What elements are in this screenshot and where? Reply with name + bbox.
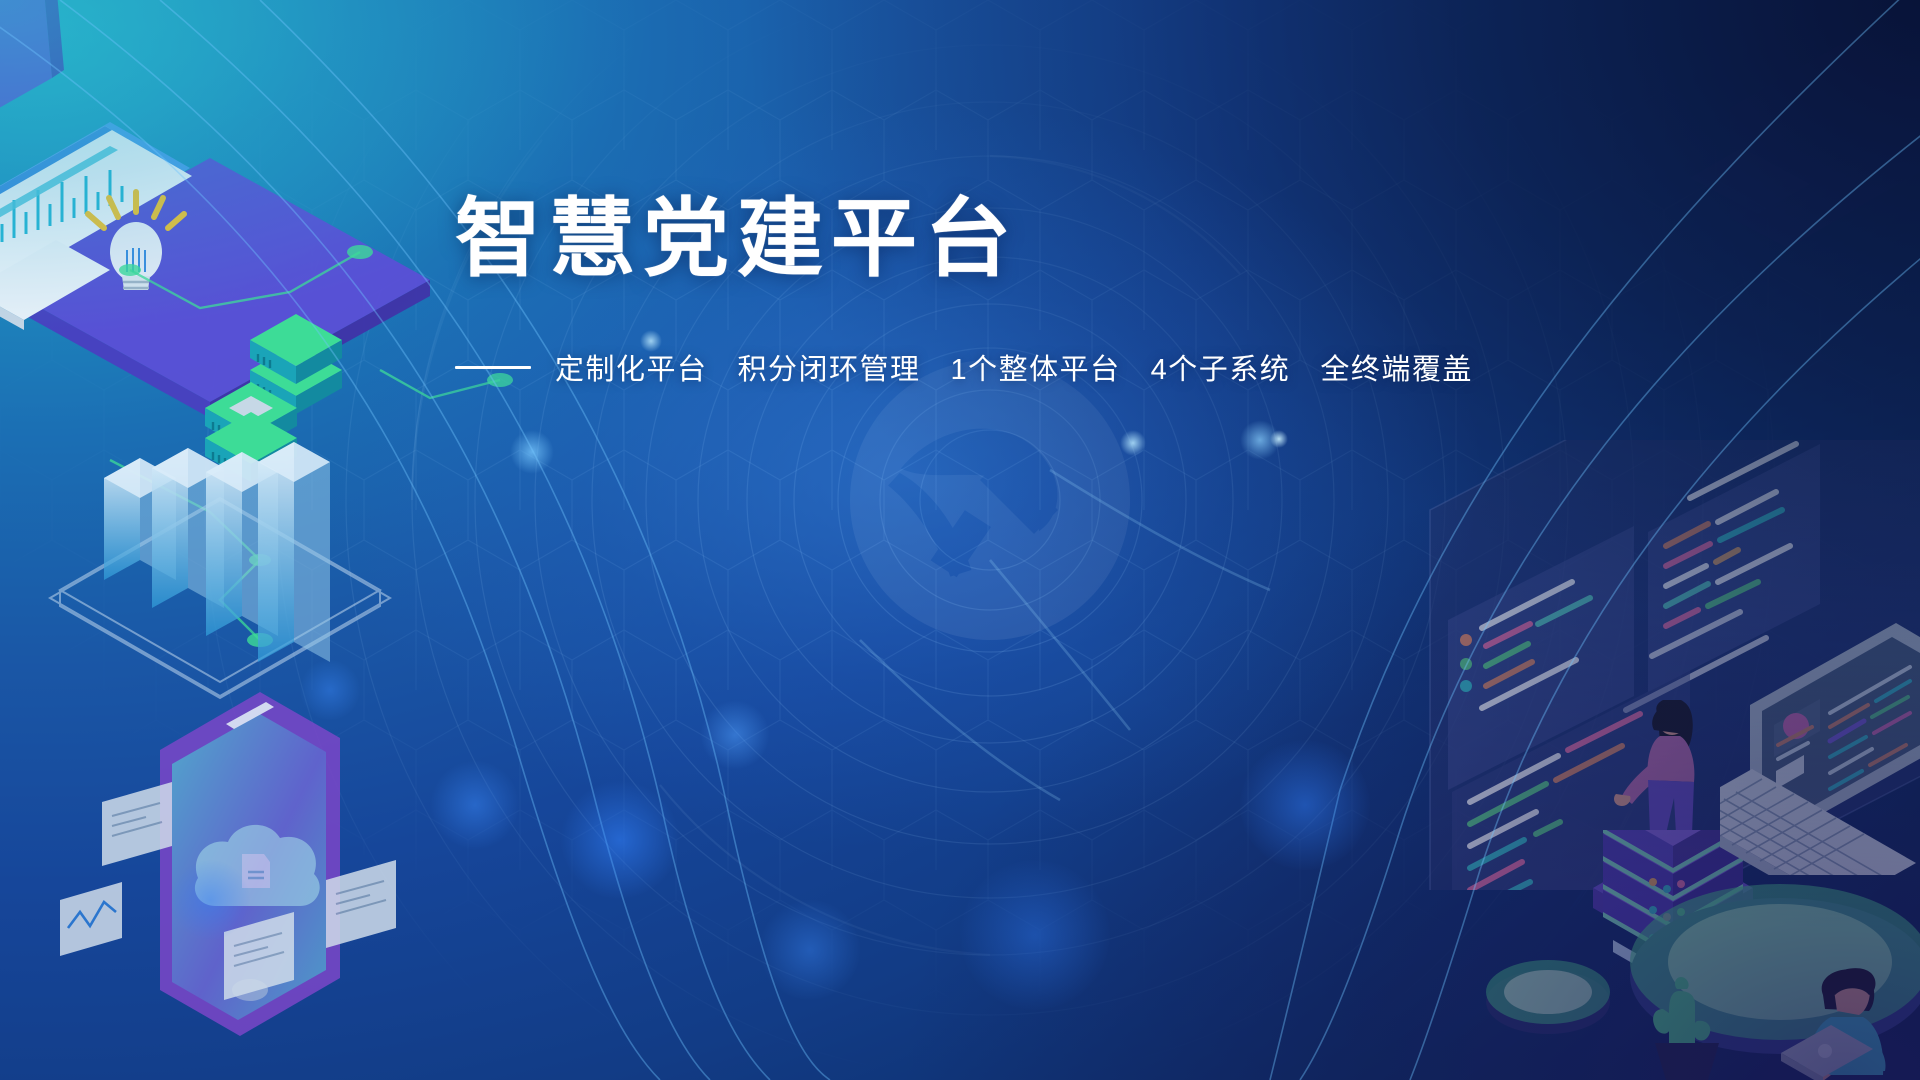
disc-small <box>1486 960 1610 1034</box>
hero-subtitle: 定制化平台 积分闭环管理 1个整体平台 4个子系统 全终端覆盖 <box>455 346 1455 388</box>
pot <box>1655 1043 1719 1080</box>
corner-slab-purple <box>0 0 100 150</box>
subtitle-item-list: 定制化平台 积分闭环管理 1个整体平台 4个子系统 全终端覆盖 <box>555 346 1473 388</box>
status-dots <box>1460 634 1472 692</box>
laptop-silhouette-top-right <box>1690 0 1920 260</box>
cactus <box>1653 977 1710 1047</box>
seated-person-laptop <box>1775 965 1920 1080</box>
cpc-party-emblem-watermark <box>845 355 1135 645</box>
smartphone-cloud-storage <box>60 690 420 1080</box>
hero-banner: 智慧党建平台 定制化平台 积分闭环管理 1个整体平台 4个子系统 全终端覆盖 <box>0 0 1920 1080</box>
subtitle-item-3: 4个子系统 <box>1151 346 1291 388</box>
subtitle-item-0: 定制化平台 <box>555 346 708 388</box>
cactus-plant <box>1635 965 1745 1080</box>
laptop-dashboard <box>1720 545 1920 875</box>
subtitle-item-4: 全终端覆盖 <box>1320 346 1473 388</box>
subtitle-item-1: 积分闭环管理 <box>738 346 921 388</box>
subtitle-item-2: 1个整体平台 <box>951 346 1121 388</box>
bars <box>104 442 330 662</box>
person <box>1614 700 1694 842</box>
subtitle-dash-rule <box>455 366 531 369</box>
hero-text-block: 智慧党建平台 定制化平台 积分闭环管理 1个整体平台 4个子系统 全终端覆盖 <box>455 196 1455 388</box>
chart-card <box>60 882 122 956</box>
page-title: 智慧党建平台 <box>455 196 1455 282</box>
